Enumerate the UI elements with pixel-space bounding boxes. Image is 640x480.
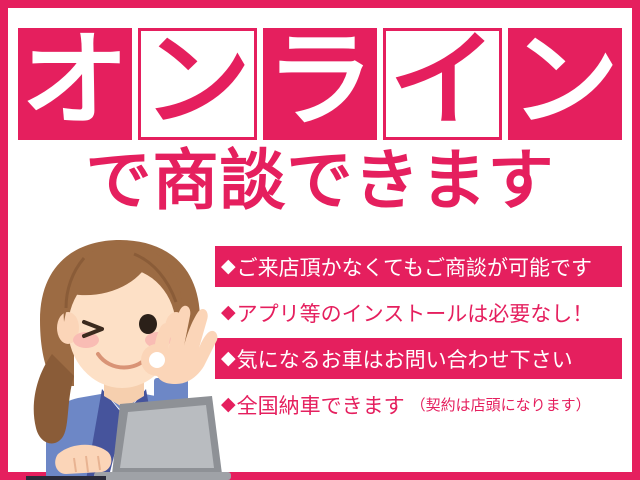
headline-kana-box-1: オ: [18, 28, 132, 140]
headline-kana-box-5: ン: [508, 28, 622, 140]
online-consultation-banner: オ ン ラ イ ン で商談できます ◆ ご来店頂かなくてもご商談が可能です: [0, 0, 640, 480]
bullet-item-4-label: 全国納車できます: [237, 390, 405, 420]
banner-inner-panel: オ ン ラ イ ン で商談できます ◆ ご来店頂かなくてもご商談が可能です: [8, 8, 632, 472]
desk-edge: [26, 476, 106, 480]
sub-headline: で商談できます: [8, 144, 632, 218]
open-eye: [139, 314, 157, 334]
bullet-item-3: ◆ 気になるお車はお問い合わせ下さい: [215, 338, 622, 379]
bullet-item-1: ◆ ご来店頂かなくてもご商談が可能です: [215, 246, 622, 287]
woman-with-laptop-illustration: [16, 236, 231, 480]
headline-kana-box-2: ン: [138, 28, 258, 140]
bullet-item-1-label: ご来店頂かなくてもご商談が可能です: [237, 252, 592, 282]
bullet-item-3-label: 気になるお車はお問い合わせ下さい: [237, 344, 573, 374]
ok-gesture-hole: [149, 352, 165, 368]
headline-kana-char-4: イ: [388, 28, 496, 132]
headline-kana-box-3: ラ: [263, 28, 377, 140]
bullet-item-4: ◆ 全国納車できます （契約は店頭になります）: [215, 384, 622, 425]
bullet-item-2: ◆ アプリ等のインストールは必要なし！: [215, 292, 622, 333]
laptop-screen-inner: [120, 405, 214, 468]
headline-kana-char-5: ン: [511, 28, 619, 132]
headline-kana-char-2: ン: [143, 28, 251, 132]
headline-kana-char-1: オ: [21, 28, 129, 132]
headline-kana-char-3: ラ: [266, 28, 374, 132]
bullet-item-4-note: （契約は店頭になります）: [411, 394, 591, 415]
headline-kana-row: オ ン ラ イ ン: [18, 28, 622, 140]
headline-kana-box-4: イ: [383, 28, 503, 140]
laptop-base: [94, 472, 231, 480]
bullet-item-2-label: アプリ等のインストールは必要なし！: [237, 298, 594, 328]
bullet-list: ◆ ご来店頂かなくてもご商談が可能です ◆ アプリ等のインストールは必要なし！ …: [215, 246, 622, 425]
